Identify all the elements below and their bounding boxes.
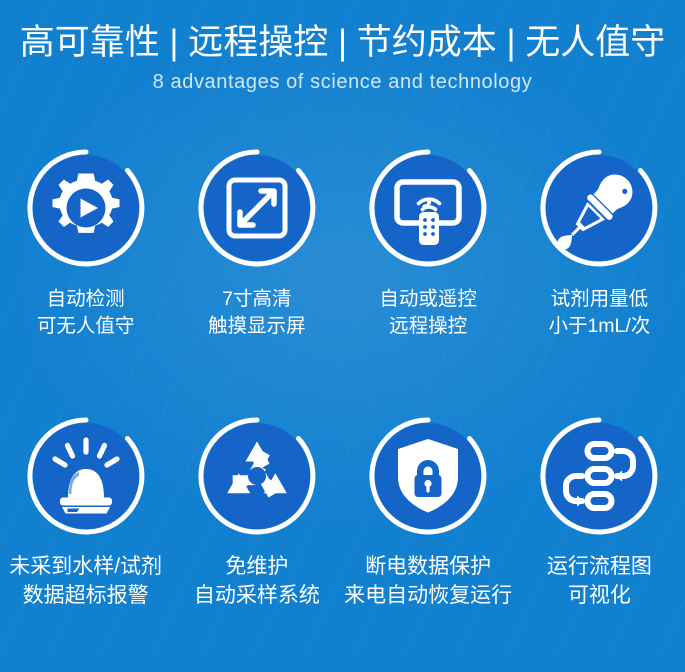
feature-item-flowchart[interactable]: 运行流程图 可视化 — [514, 414, 685, 672]
feature-item-alarm[interactable]: 未采到水样/试剂 数据超标报警 — [0, 414, 171, 672]
caption-line-1: 自动检测 — [37, 286, 135, 313]
caption-line-2: 触摸显示屏 — [208, 313, 306, 340]
caption-line-2: 来电自动恢复运行 — [344, 582, 512, 611]
promo-poster: 高可靠性 | 远程操控 | 节约成本 | 无人值守 8 advantages o… — [0, 0, 685, 657]
expand-arrows-screen-icon — [195, 146, 319, 270]
caption-line-1: 7寸高清 — [208, 286, 306, 313]
caption-line-2: 小于1mL/次 — [548, 313, 650, 340]
caption-line-2: 远程操控 — [379, 313, 477, 340]
alarm-siren-icon — [24, 414, 148, 538]
dropper-icon — [537, 146, 661, 270]
caption-line-1: 断电数据保护 — [344, 553, 512, 582]
caption-line-1: 试剂用量低 — [548, 286, 650, 313]
caption-line-1: 运行流程图 — [547, 553, 652, 582]
caption-line-2: 数据超标报警 — [9, 582, 162, 611]
feature-caption: 自动或遥控 远程操控 — [379, 286, 477, 340]
feature-caption: 断电数据保护 来电自动恢复运行 — [344, 553, 512, 611]
feature-caption: 运行流程图 可视化 — [547, 553, 652, 611]
monitor-remote-wifi-icon — [366, 146, 490, 270]
feature-item-remote-control[interactable]: 自动或遥控 远程操控 — [343, 146, 514, 404]
feature-item-touchscreen[interactable]: 7寸高清 触摸显示屏 — [171, 146, 342, 404]
shield-lock-icon — [366, 414, 490, 538]
caption-line-2: 自动采样系统 — [194, 582, 320, 611]
caption-line-2: 可无人值守 — [37, 313, 135, 340]
feature-grid: 自动检测 可无人值守 7寸高清 触摸显示屏 — [0, 146, 685, 672]
caption-line-1: 未采到水样/试剂 — [9, 553, 162, 582]
feature-caption: 未采到水样/试剂 数据超标报警 — [9, 553, 162, 611]
feature-item-power-protection[interactable]: 断电数据保护 来电自动恢复运行 — [343, 414, 514, 672]
feature-caption: 7寸高清 触摸显示屏 — [208, 286, 306, 340]
feature-caption: 试剂用量低 小于1mL/次 — [548, 286, 650, 340]
caption-line-1: 免维护 — [194, 553, 320, 582]
feature-item-maintenance-free[interactable]: 免维护 自动采样系统 — [171, 414, 342, 672]
header: 高可靠性 | 远程操控 | 节约成本 | 无人值守 8 advantages o… — [0, 0, 685, 94]
caption-line-2: 可视化 — [547, 582, 652, 611]
feature-item-auto-detection[interactable]: 自动检测 可无人值守 — [0, 146, 171, 404]
flowchart-loop-icon — [537, 414, 661, 538]
recycle-icon — [195, 414, 319, 538]
page-subtitle: 8 advantages of science and technology — [0, 71, 685, 94]
feature-caption: 自动检测 可无人值守 — [37, 286, 135, 340]
gear-play-icon — [24, 146, 148, 270]
feature-caption: 免维护 自动采样系统 — [194, 553, 320, 611]
page-title: 高可靠性 | 远程操控 | 节约成本 | 无人值守 — [0, 22, 685, 63]
caption-line-1: 自动或遥控 — [379, 286, 477, 313]
feature-item-reagent-usage[interactable]: 试剂用量低 小于1mL/次 — [514, 146, 685, 404]
